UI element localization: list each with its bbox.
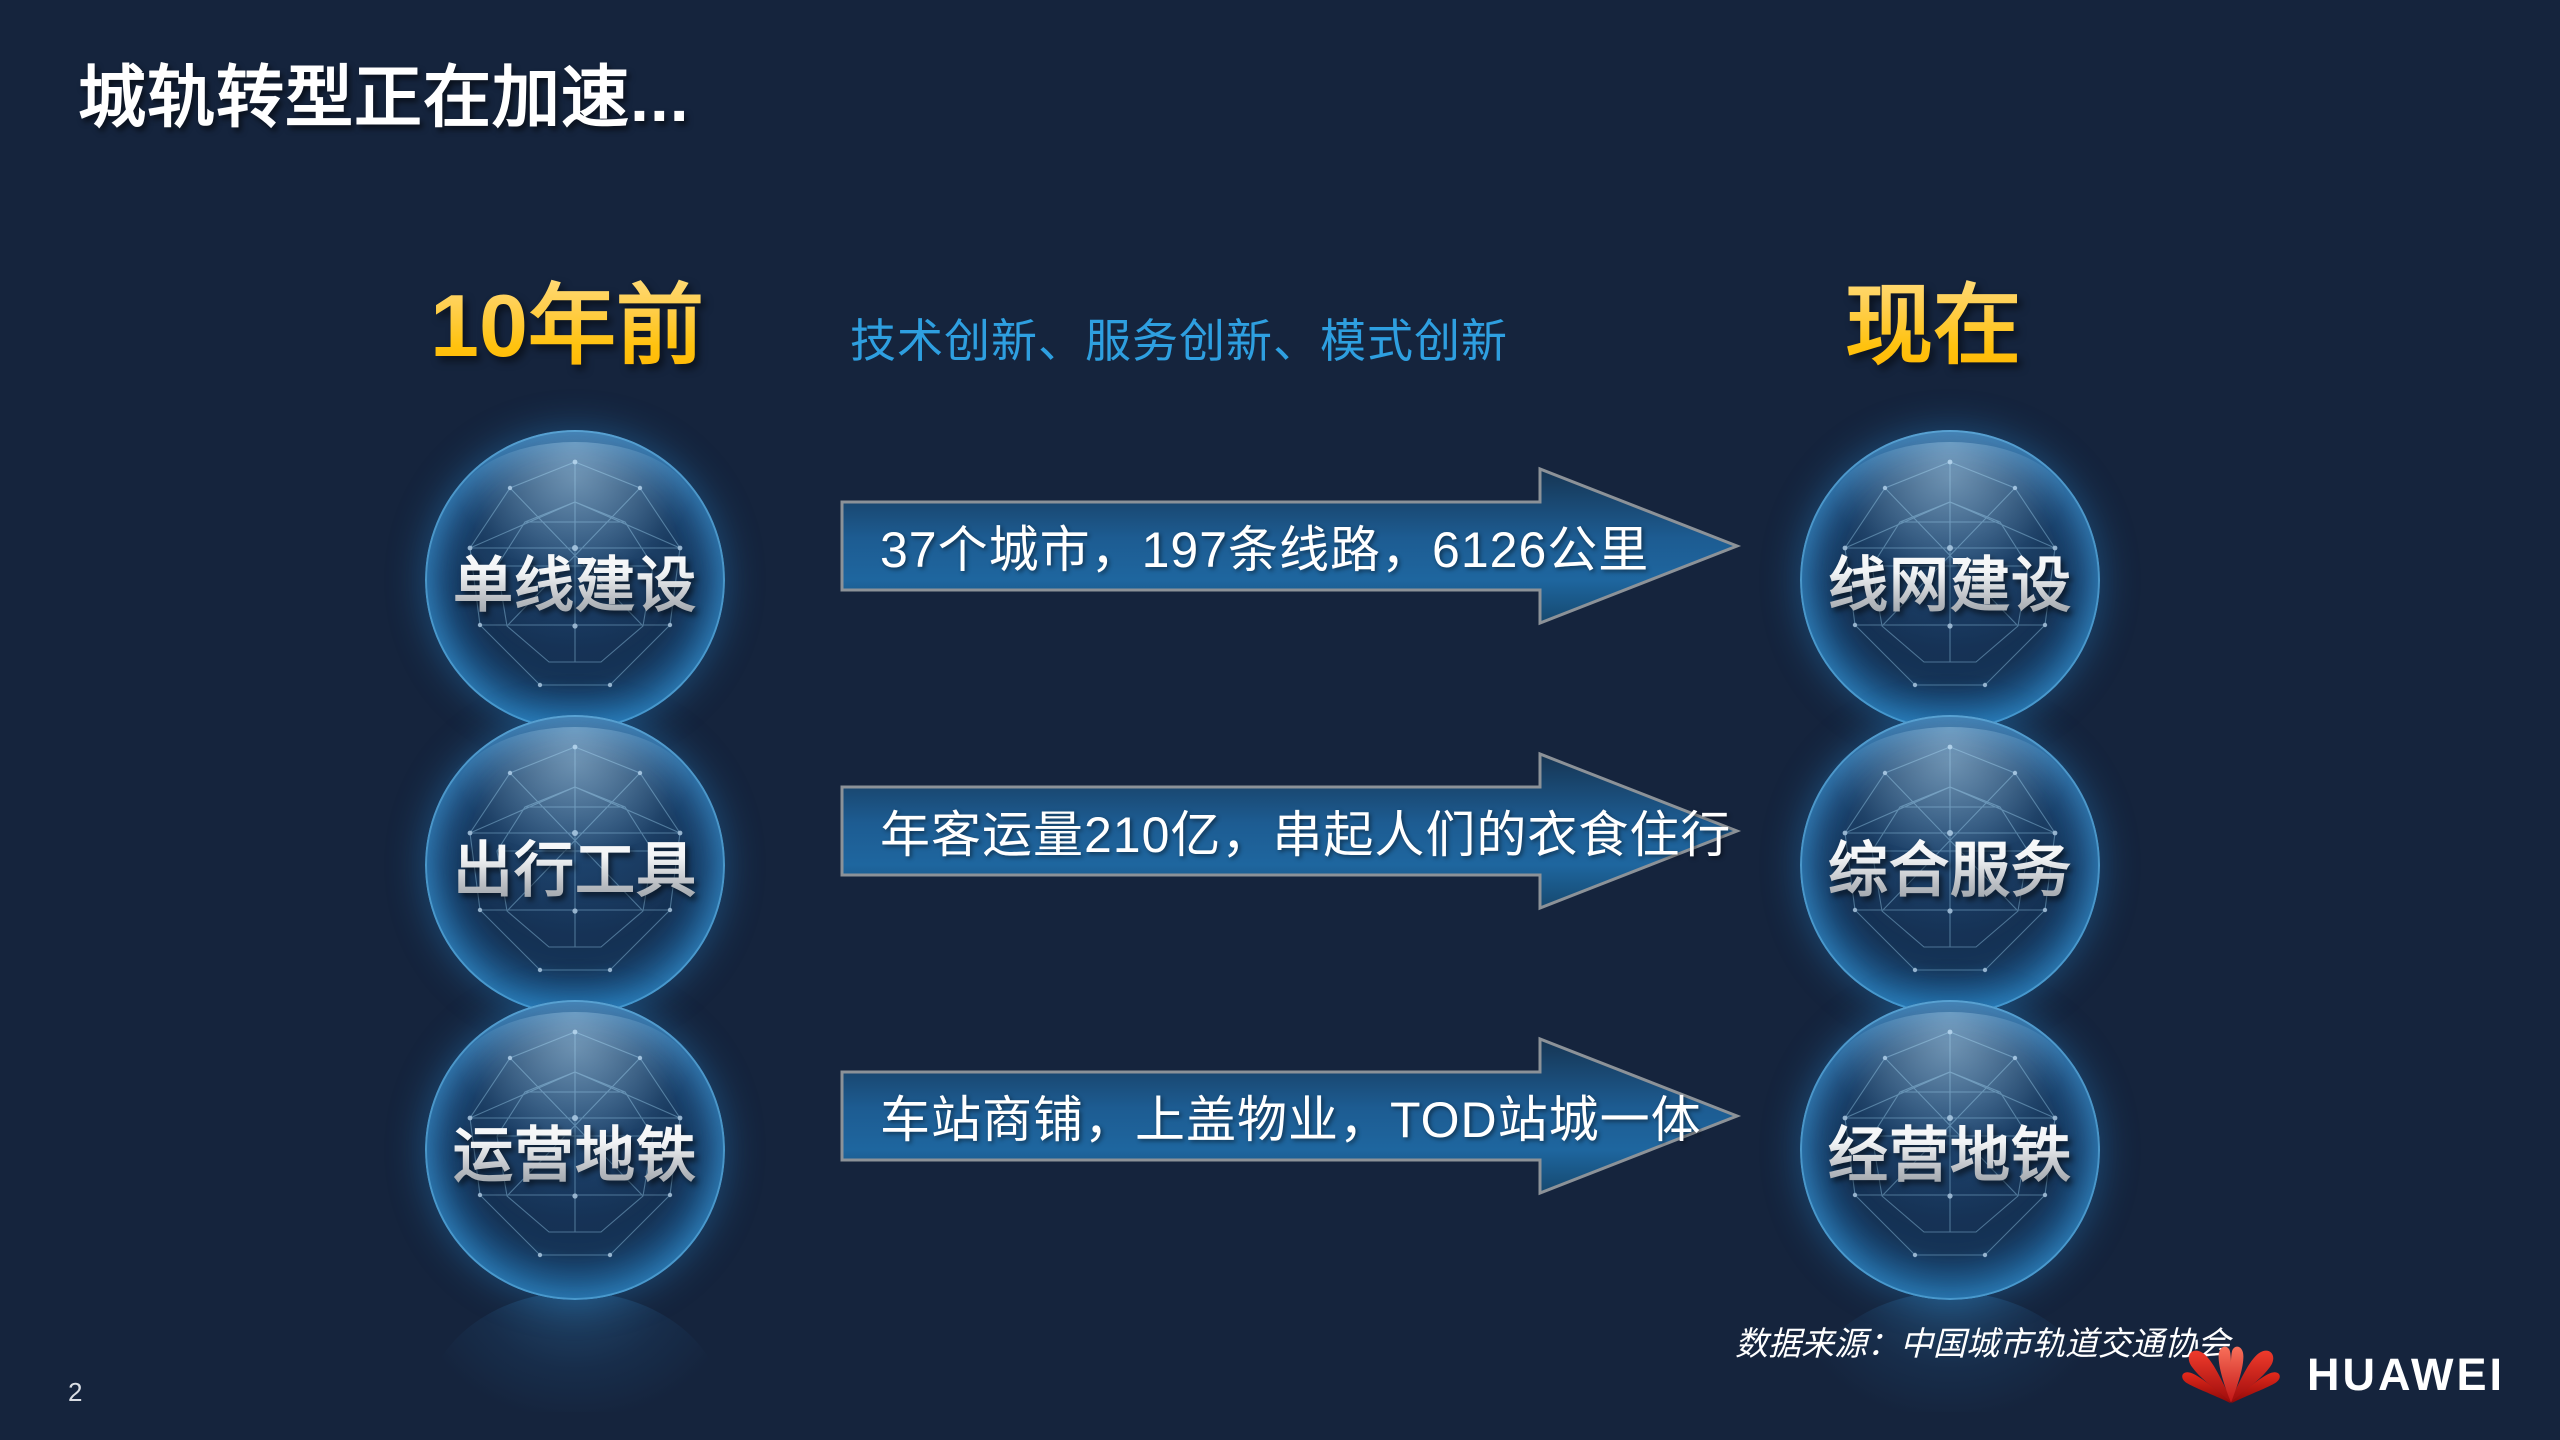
arrow-text-1: 37个城市，197条线路，6126公里	[880, 466, 1649, 626]
huawei-logo: HUAWEI	[2177, 1344, 2505, 1406]
slide-canvas: 城轨转型正在加速... 10年前 现在 技术创新、服务创新、模式创新 单线建设	[0, 0, 2560, 1440]
page-number: 2	[68, 1377, 82, 1408]
sphere-label-now-2: 综合服务	[1828, 822, 2072, 909]
sphere-reflection	[425, 1292, 725, 1412]
column-header-past: 10年前	[430, 255, 704, 382]
transition-arrow-1[interactable]: 37个城市，197条线路，6126公里	[840, 466, 1740, 626]
column-header-now: 现在	[1845, 255, 2021, 382]
huawei-flower-icon	[2177, 1344, 2285, 1406]
arrow-text-2: 年客运量210亿，串起人们的衣食住行	[880, 751, 1731, 911]
sphere-past-1[interactable]: 单线建设	[425, 430, 725, 730]
huawei-wordmark: HUAWEI	[2307, 1349, 2505, 1401]
innovation-caption: 技术创新、服务创新、模式创新	[850, 305, 1508, 371]
sphere-now-1[interactable]: 线网建设	[1800, 430, 2100, 730]
transition-arrow-3[interactable]: 车站商铺，上盖物业，TOD站城一体	[840, 1036, 1740, 1196]
sphere-label-past-1: 单线建设	[453, 537, 697, 624]
sphere-label-now-1: 线网建设	[1828, 537, 2072, 624]
sphere-label-past-3: 运营地铁	[453, 1107, 697, 1194]
sphere-label-now-3: 经营地铁	[1828, 1107, 2072, 1194]
sphere-past-3[interactable]: 运营地铁	[425, 1000, 725, 1300]
sphere-past-2[interactable]: 出行工具	[425, 715, 725, 1015]
transition-arrow-2[interactable]: 年客运量210亿，串起人们的衣食住行	[840, 751, 1740, 911]
page-title: 城轨转型正在加速...	[78, 42, 690, 141]
data-source-note: 数据来源：中国城市轨道交通协会	[1735, 1317, 2230, 1365]
sphere-label-past-2: 出行工具	[453, 822, 697, 909]
sphere-now-2[interactable]: 综合服务	[1800, 715, 2100, 1015]
sphere-now-3[interactable]: 经营地铁	[1800, 1000, 2100, 1300]
arrow-text-3: 车站商铺，上盖物业，TOD站城一体	[880, 1036, 1702, 1196]
